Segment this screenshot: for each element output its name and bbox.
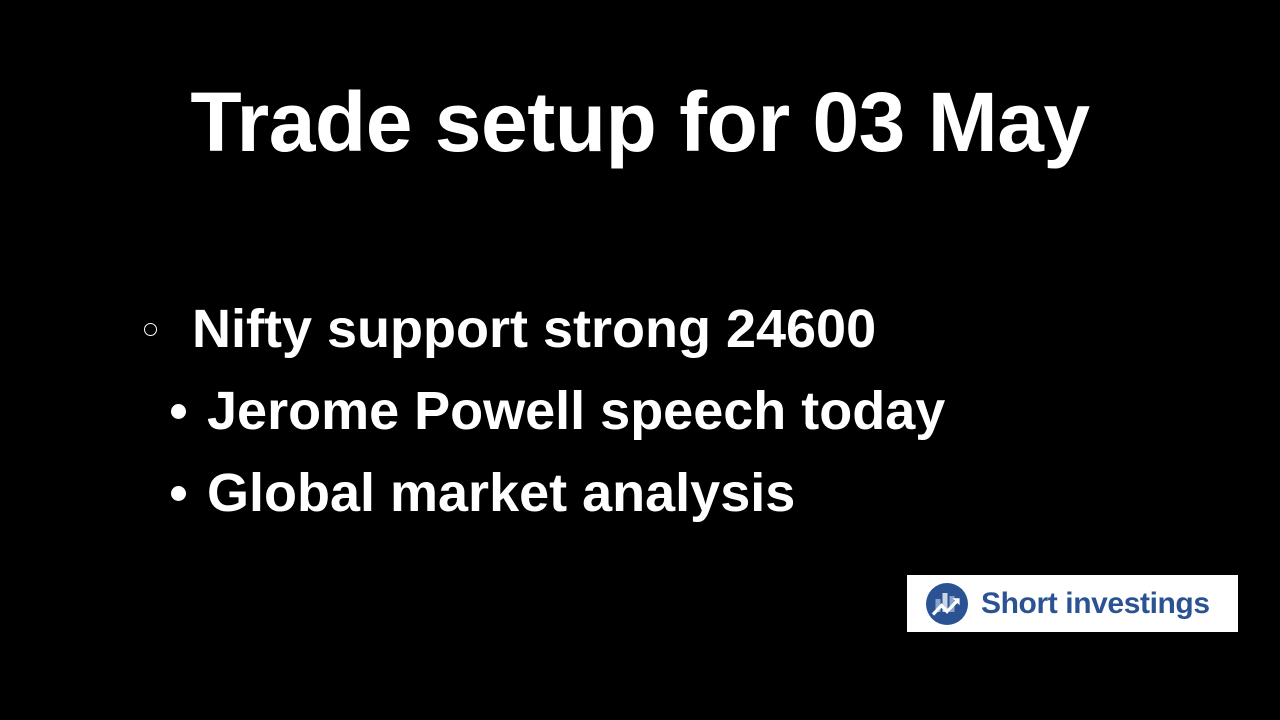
list-item-label: Nifty support strong 24600 [192, 288, 876, 370]
brand-name-label: Short investings [981, 587, 1210, 621]
list-item: Global market analysis [136, 452, 1136, 534]
hollow-circle-bullet-icon [144, 323, 157, 336]
list-item-label: Global market analysis [207, 452, 795, 534]
slide-canvas: Trade setup for 03 May Nifty support str… [0, 0, 1280, 720]
list-item-label: Jerome Powell speech today [207, 370, 945, 452]
filled-disc-bullet-icon [171, 486, 186, 501]
page-title: Trade setup for 03 May [0, 74, 1280, 170]
bullet-list: Nifty support strong 24600 Jerome Powell… [136, 288, 1136, 534]
list-item: Jerome Powell speech today [136, 370, 1136, 452]
bar-chart-arrow-icon [925, 582, 969, 626]
filled-disc-bullet-icon [171, 404, 186, 419]
brand-logo-badge: Short investings [907, 575, 1238, 632]
list-item: Nifty support strong 24600 [136, 288, 1136, 370]
